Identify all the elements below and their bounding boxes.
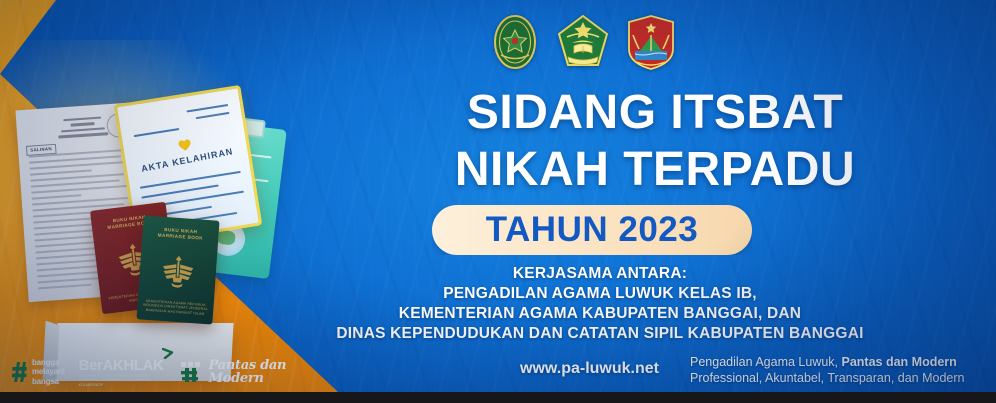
document-collage: SALINAN AKTA KELAHIRAN — [0, 78, 320, 368]
cooperation-block: KERJASAMA ANTARA: PENGADILAN AGAMA LUWUK… — [300, 264, 900, 344]
check-swoosh-icon — [162, 348, 174, 359]
pantas-dan-modern-logo: Pantas dan Modern — [179, 355, 287, 389]
book-footer: KEMENTERIAN AGAMA REPUBLIK INDONESIA DIR… — [137, 298, 214, 316]
hashtag-icon — [12, 361, 28, 383]
pengadilan-agama-emblem — [487, 13, 543, 71]
logo-row: bangga melayani bangsa BerAKHLAK BERORIE… — [12, 352, 286, 392]
emblem-row — [487, 12, 679, 72]
bangga-melayani-bangsa-logo: bangga melayani bangsa — [12, 355, 65, 389]
tagline-block: Pengadilan Agama Luwuk, Pantas dan Moder… — [690, 354, 964, 386]
bottom-bar — [0, 392, 996, 403]
marriage-book-green: BUKU NIKAH MARRIAGE BOOK KEMENTERIAN AGA… — [136, 215, 219, 324]
bangga-logo-text: bangga melayani bangsa — [32, 358, 65, 386]
banner-title: SIDANG ITSBAT NIKAH TERPADU — [390, 84, 920, 198]
year-badge: TAHUN 2023 — [432, 205, 752, 255]
cooperation-line: PENGADILAN AGAMA LUWUK KELAS IB, — [300, 284, 900, 304]
cooperation-line: KEMENTERIAN AGAMA KABUPATEN BANGGAI, DAN — [300, 304, 900, 324]
year-badge-label: TAHUN 2023 — [486, 210, 698, 250]
berakhlak-micro-text: BERORIENTASI PELAYANAN, AKUNTABEL, KOMPE… — [79, 374, 165, 387]
cooperation-line: KERJASAMA ANTARA: — [300, 264, 900, 284]
website-url[interactable]: www.pa-luwuk.net — [520, 360, 659, 378]
tagline-line-1: Pengadilan Agama Luwuk, Pantas dan Moder… — [690, 354, 964, 370]
garuda-emblem-icon — [158, 251, 199, 292]
heart-icon — [177, 138, 193, 152]
pantas-mark-icon — [179, 359, 205, 385]
berakhlak-wordmark: BerAKHLAK — [79, 357, 165, 374]
cooperation-line: DINAS KEPENDUDUKAN DAN CATATAN SIPIL KAB… — [300, 324, 900, 344]
tagline-line-2: Professional, Akuntabel, Transparan, dan… — [690, 370, 964, 386]
title-line-1: SIDANG ITSBAT — [390, 84, 920, 141]
berakhlak-logo: BerAKHLAK BERORIENTASI PELAYANAN, AKUNTA… — [79, 355, 165, 389]
title-line-2: NIKAH TERPADU — [390, 141, 920, 198]
pantas-wordmark: Pantas dan Modern — [209, 359, 287, 385]
kabupaten-banggai-emblem — [623, 13, 679, 71]
itsbat-banner: SALINAN AKTA KELAHIRAN — [0, 0, 996, 403]
book-title: BUKU NIKAH MARRIAGE BOOK — [142, 225, 219, 242]
kementerian-agama-emblem — [555, 13, 611, 71]
